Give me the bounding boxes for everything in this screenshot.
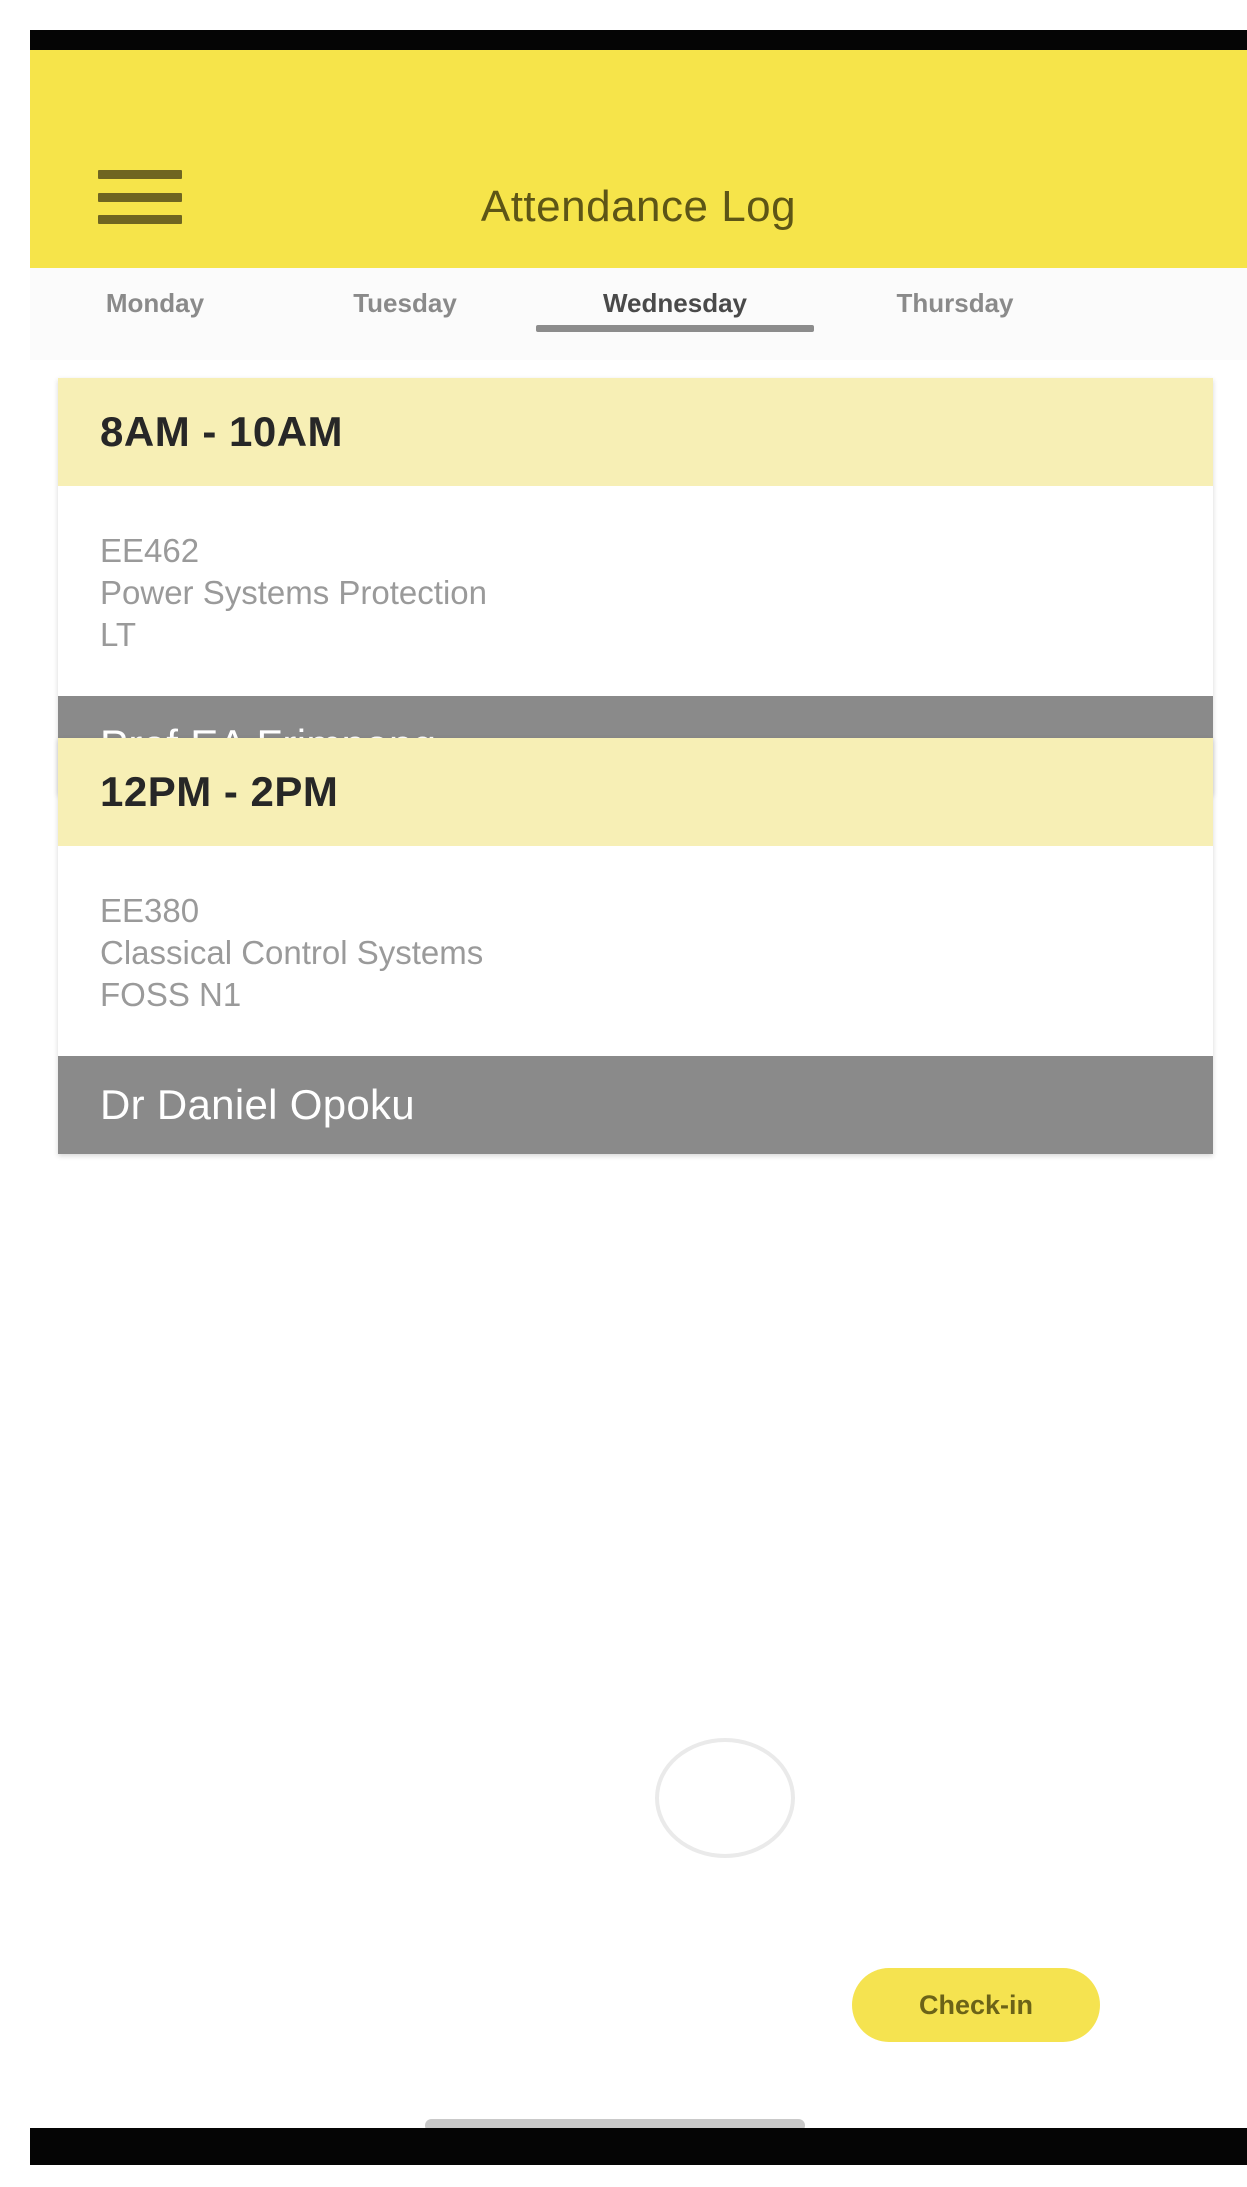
- course-code: EE380: [100, 890, 1171, 932]
- tab-thursday[interactable]: Thursday: [820, 268, 1090, 360]
- tab-monday[interactable]: Monday: [30, 268, 280, 360]
- app-header: Attendance Log: [30, 50, 1247, 268]
- hamburger-bar-1: [98, 170, 182, 179]
- lecturer-name: Dr Daniel Opoku: [100, 1081, 415, 1129]
- card-details: EE380 Classical Control Systems FOSS N1: [58, 846, 1213, 1056]
- card-details: EE462 Power Systems Protection LT: [58, 486, 1213, 696]
- course-title: Power Systems Protection: [100, 572, 1171, 614]
- card-time-band: 12PM - 2PM: [58, 738, 1213, 846]
- tab-monday-label: Monday: [106, 288, 204, 319]
- page-title: Attendance Log: [30, 182, 1247, 232]
- tab-wednesday[interactable]: Wednesday: [530, 268, 820, 360]
- card-time-text: 12PM - 2PM: [100, 768, 338, 816]
- schedule-card[interactable]: 8AM - 10AM EE462 Power Systems Protectio…: [58, 378, 1213, 794]
- tab-tuesday[interactable]: Tuesday: [280, 268, 530, 360]
- course-venue: FOSS N1: [100, 974, 1171, 1016]
- course-code: EE462: [100, 530, 1171, 572]
- status-bar: [30, 30, 1247, 50]
- course-venue: LT: [100, 614, 1171, 656]
- tab-tuesday-label: Tuesday: [353, 288, 457, 319]
- schedule-card[interactable]: 12PM - 2PM EE380 Classical Control Syste…: [58, 738, 1213, 1154]
- schedule-list: 8AM - 10AM EE462 Power Systems Protectio…: [30, 360, 1247, 2100]
- tab-wednesday-label: Wednesday: [603, 288, 747, 319]
- empty-circle-placeholder[interactable]: [655, 1738, 795, 1858]
- card-time-text: 8AM - 10AM: [100, 408, 343, 456]
- card-time-band: 8AM - 10AM: [58, 378, 1213, 486]
- day-tab-bar: Monday Tuesday Wednesday Thursday: [30, 268, 1247, 360]
- tab-tuesday-underline: [286, 325, 524, 332]
- device-screen: Attendance Log Monday Tuesday Wednesday …: [0, 0, 1247, 2187]
- card-lecturer-bar: Dr Daniel Opoku: [58, 1056, 1213, 1154]
- tab-monday-underline: [36, 325, 274, 332]
- course-title: Classical Control Systems: [100, 932, 1171, 974]
- bottom-navigation-bar: [30, 2128, 1247, 2165]
- tab-thursday-underline: [826, 325, 1084, 332]
- check-in-button[interactable]: Check-in: [852, 1968, 1100, 2042]
- tab-thursday-label: Thursday: [896, 288, 1013, 319]
- tab-wednesday-underline: [536, 325, 814, 332]
